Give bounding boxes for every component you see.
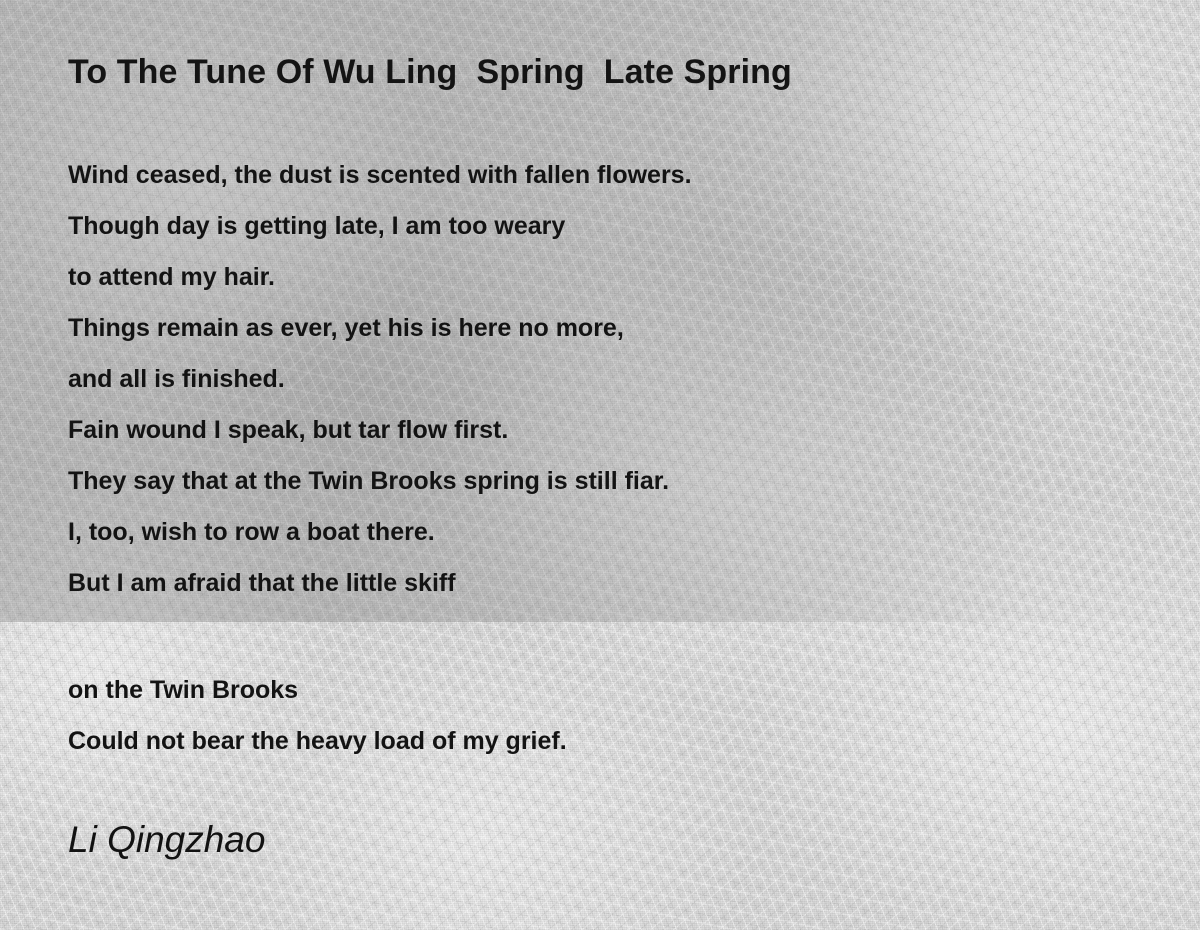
poem-card: To The Tune Of Wu Ling Spring Late Sprin… — [0, 0, 1200, 930]
poem-line: Though day is getting late, I am too wea… — [68, 201, 1148, 252]
poem-stanza-two: on the Twin Brooks Could not bear the he… — [68, 665, 1148, 767]
poem-line: and all is finished. — [68, 354, 1148, 405]
poem-line: on the Twin Brooks — [68, 665, 1148, 716]
page-title: To The Tune Of Wu Ling Spring Late Sprin… — [68, 52, 792, 93]
poem-line: I, too, wish to row a boat there. — [68, 507, 1148, 558]
poem-line: Could not bear the heavy load of my grie… — [68, 716, 1148, 767]
poem-line: But I am afraid that the little skiff — [68, 558, 1148, 609]
poem-line: They say that at the Twin Brooks spring … — [68, 456, 1148, 507]
text-layer: To The Tune Of Wu Ling Spring Late Sprin… — [0, 0, 1200, 930]
author-name: Li Qingzhao — [68, 818, 265, 862]
poem-line: Fain wound I speak, but tar flow first. — [68, 405, 1148, 456]
poem-line: Things remain as ever, yet his is here n… — [68, 303, 1148, 354]
poem-line: Wind ceased, the dust is scented with fa… — [68, 150, 1148, 201]
poem-line: to attend my hair. — [68, 252, 1148, 303]
poem-stanza-one: Wind ceased, the dust is scented with fa… — [68, 150, 1148, 609]
